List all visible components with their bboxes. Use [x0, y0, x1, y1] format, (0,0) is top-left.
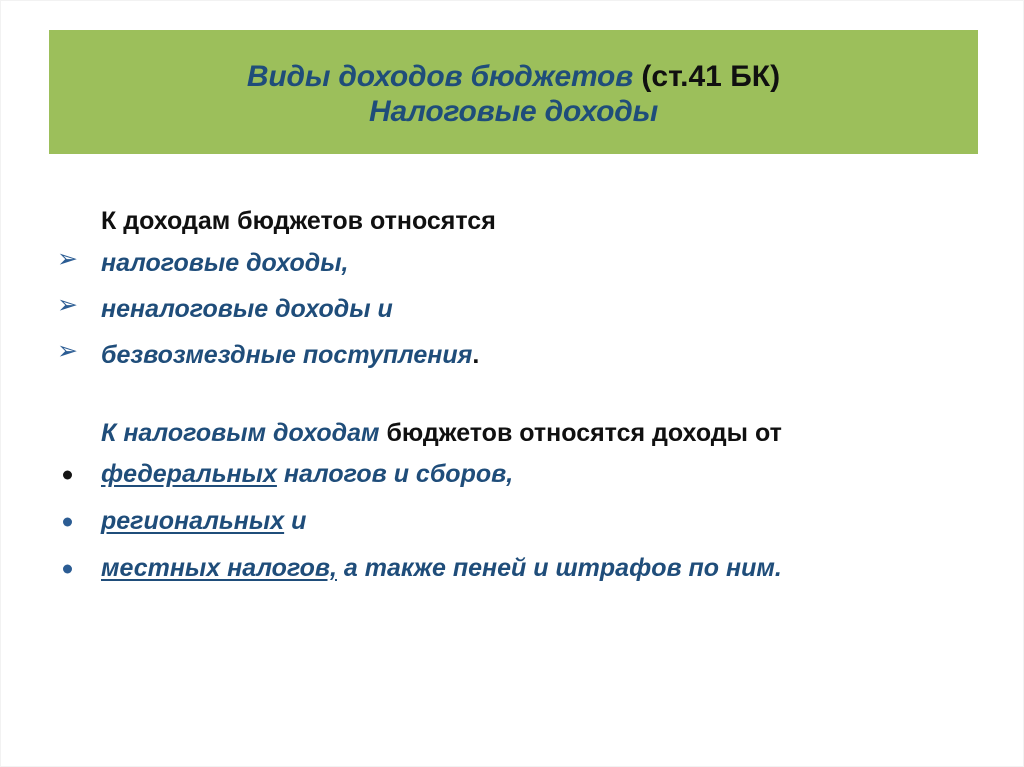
- list-item-terminator: .: [472, 341, 479, 369]
- title-subtitle-text: Налоговые доходы: [369, 95, 658, 128]
- slide-body: К доходам бюджетов относятся ➢ налоговые…: [1, 209, 1024, 581]
- slide-canvas: Виды доходов бюджетов (ст.41 БК) Налогов…: [0, 0, 1024, 767]
- list-item-link[interactable]: местных налогов,: [101, 554, 337, 582]
- title-article-reference: (ст.41 БК): [633, 60, 780, 93]
- list-item: федеральных налогов и сборов,: [1, 462, 1024, 487]
- section1-lead: К доходам бюджетов относятся: [1, 209, 1024, 234]
- title-banner: Виды доходов бюджетов (ст.41 БК) Налогов…: [49, 30, 978, 154]
- title-primary-text: Виды доходов бюджетов: [247, 60, 633, 93]
- list-item-label: налогов и сборов,: [277, 460, 513, 488]
- arrow-bullet-icon: ➢: [57, 339, 78, 364]
- section-spacer: [1, 368, 1024, 421]
- list-item-link[interactable]: федеральных: [101, 460, 277, 488]
- dot-bullet-icon: [63, 564, 72, 573]
- section2-bullet-list: федеральных налогов и сборов, региональн…: [1, 462, 1024, 581]
- section2-lead-rest: бюджетов относятся доходы от: [380, 419, 782, 447]
- dot-bullet-icon: [63, 470, 72, 479]
- list-item: ➢ неналоговые доходы и: [1, 297, 1024, 322]
- list-item-label: безвозмездные поступления: [101, 341, 472, 369]
- list-item-label: а также пеней и штрафов по ним.: [337, 554, 782, 582]
- list-item-link[interactable]: региональных: [101, 507, 284, 535]
- list-item: региональных и: [1, 509, 1024, 534]
- title-line-2: Налоговые доходы: [49, 94, 978, 129]
- section2-lead: К налоговым доходам бюджетов относятся д…: [1, 421, 1024, 446]
- list-item: ➢ безвозмездные поступления.: [1, 343, 1024, 368]
- list-item-label: и: [284, 507, 306, 535]
- list-item: ➢ налоговые доходы,: [1, 251, 1024, 276]
- arrow-bullet-icon: ➢: [57, 293, 78, 318]
- list-item-label: налоговые доходы,: [101, 249, 349, 277]
- section1-bullet-list: ➢ налоговые доходы, ➢ неналоговые доходы…: [1, 251, 1024, 368]
- list-item: местных налогов, а также пеней и штрафов…: [1, 556, 1024, 581]
- list-item-label: неналоговые доходы и: [101, 295, 393, 323]
- title-line-1: Виды доходов бюджетов (ст.41 БК): [49, 59, 978, 94]
- section2-lead-emphasis: К налоговым доходам: [101, 419, 380, 447]
- dot-bullet-icon: [63, 517, 72, 526]
- arrow-bullet-icon: ➢: [57, 247, 78, 272]
